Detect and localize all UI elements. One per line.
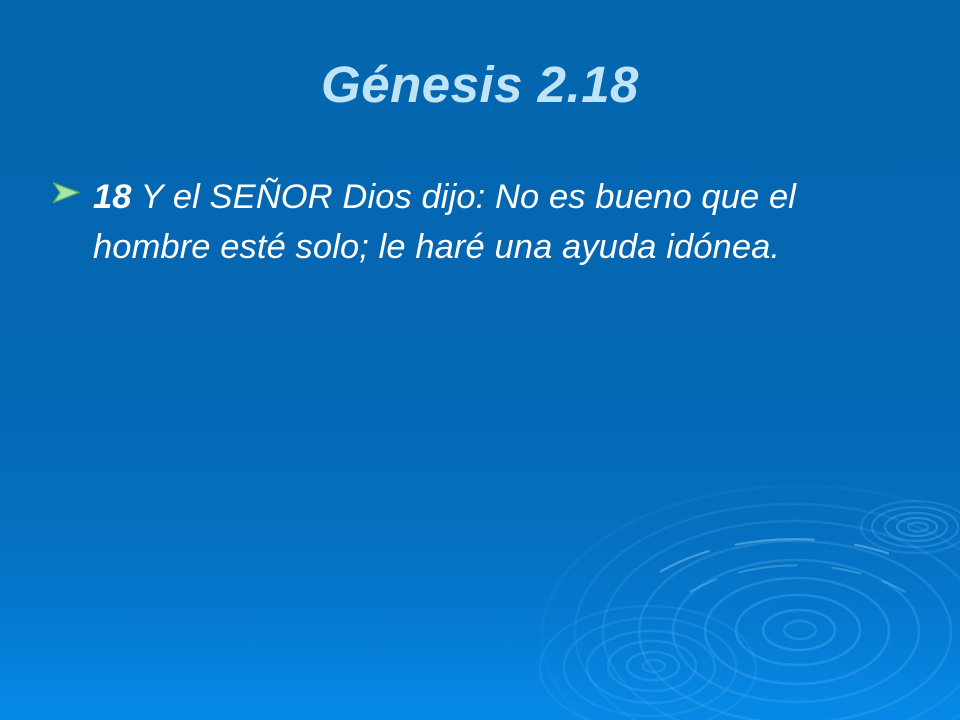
arrowhead-bullet-icon: [52, 172, 93, 205]
bullet-text: 18 Y el SEÑOR Dios dijo: No es bueno que…: [93, 172, 888, 272]
slide-title: Génesis 2.18: [0, 56, 960, 115]
ripple-outer-wash: [542, 486, 960, 720]
presentation-slide: Génesis 2.18 18 Y el SEÑOR Dios dijo: No…: [0, 0, 960, 720]
slide-body: 18 Y el SEÑOR Dios dijo: No es bueno que…: [52, 172, 888, 272]
ripple-large-center: [575, 504, 960, 720]
list-item: 18 Y el SEÑOR Dios dijo: No es bueno que…: [52, 172, 888, 272]
verse-number: 18: [93, 178, 132, 216]
ripple-small-bottom-left: [540, 606, 756, 720]
ripple-small-top-right: [861, 501, 960, 553]
verse-text: Y el SEÑOR Dios dijo: No es bueno que el…: [93, 178, 796, 266]
